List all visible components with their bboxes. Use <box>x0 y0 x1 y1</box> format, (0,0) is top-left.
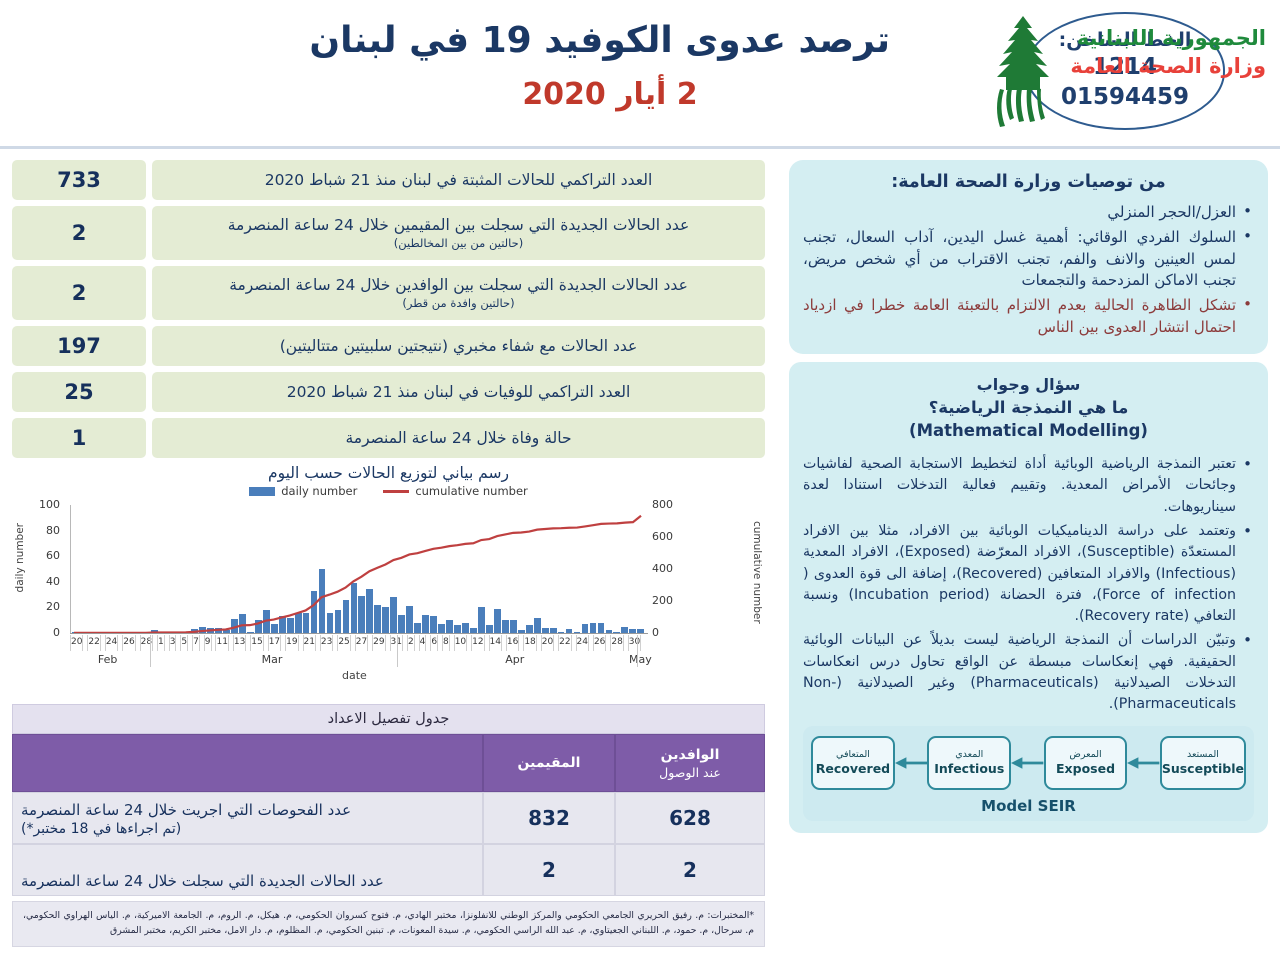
month-separator <box>150 635 151 667</box>
stat-label-text: عدد الحالات مع شفاء مخبري (نتيجتين سلبيت… <box>280 336 638 357</box>
y2-axis-tick: 600 <box>652 530 692 543</box>
list-item: العزل/الحجر المنزلي <box>803 202 1254 224</box>
y-axis-tick: 0 <box>26 626 60 639</box>
seir-node-recovered-ar: المتعافي <box>836 749 870 760</box>
month-separator <box>637 635 638 667</box>
stat-row: حالة وفاة خلال 24 ساعة المنصرمة 1 <box>12 418 765 458</box>
legend-item-cumulative: cumulative number <box>383 484 527 498</box>
x-axis-tick: 21 <box>303 635 315 651</box>
qa-heading-line2: ما هي النمذجة الرياضية؟ <box>803 396 1254 419</box>
recommendation-text: تشكل الظاهرة الحالية بعدم الالتزام بالتع… <box>803 296 1236 336</box>
details-table: جدول تفصيل الاعداد الوافدين عند الوصول ا… <box>12 704 765 947</box>
table-cell-label-text: عدد الفحوصات التي اجريت خلال 24 ساعة الم… <box>21 800 351 820</box>
x-axis-tick: 29 <box>372 635 384 651</box>
x-axis-tick: 15 <box>250 635 262 651</box>
table-row: 2 2 عدد الحالات الجديدة التي سجلت خلال 2… <box>12 844 765 896</box>
stat-label-text: العدد التراكمي للوفيات في لبنان منذ 21 ش… <box>287 382 631 403</box>
y-axis-tick: 40 <box>26 575 60 588</box>
x-axis-tick: 20 <box>70 635 82 651</box>
seir-node-exposed: المعرض Exposed <box>1044 736 1128 790</box>
qa-text: تعتبر النمذجة الرياضية الوبائية أداة لتخ… <box>803 456 1236 515</box>
legend-label-daily: daily number <box>281 484 357 498</box>
arrow-left-icon <box>1127 755 1159 771</box>
stat-value: 197 <box>12 326 146 366</box>
x-axis-tick: 9 <box>204 635 211 651</box>
qa-text: وتبيّن الدراسات أن النمذجة الرياضية ليست… <box>803 632 1236 712</box>
table-cell-residents: 832 <box>483 792 615 844</box>
x-axis-title: date <box>342 669 367 682</box>
table-cell-arrivals: 628 <box>615 792 765 844</box>
y-axis-tick: 60 <box>26 549 60 562</box>
table-cell-residents: 2 <box>483 844 615 896</box>
x-axis-tick: 11 <box>215 635 227 651</box>
x-axis-tick: 23 <box>320 635 332 651</box>
daily-cases-chart: رسم بياني لتوزيع الحالات حسب اليوم daily… <box>12 464 765 696</box>
x-axis-ticks: 20.22.24.26.28.1.3.5.7.9.11.13.15.17.19.… <box>70 635 645 651</box>
stat-row: العدد التراكمي للوفيات في لبنان منذ 21 ش… <box>12 372 765 412</box>
stat-label-subtext: (حالتين وافدة من قطر) <box>402 296 514 311</box>
chart-title: رسم بياني لتوزيع الحالات حسب اليوم <box>12 464 765 482</box>
x-axis-line <box>70 633 648 634</box>
logo-ministry-label: وزارة الصحة العامة <box>1070 54 1266 78</box>
x-axis-tick: 17 <box>268 635 280 651</box>
legend-swatch-bar-icon <box>249 487 275 496</box>
table-col-residents: المقيمين <box>483 734 615 792</box>
legend-item-daily: daily number <box>249 484 357 498</box>
table-caption: جدول تفصيل الاعداد <box>12 704 765 734</box>
month-label: Feb <box>98 653 117 666</box>
x-axis-tick: 19 <box>285 635 297 651</box>
y2-axis-tick: 200 <box>652 594 692 607</box>
x-axis-tick: 13 <box>233 635 245 651</box>
x-axis-tick: 16 <box>506 635 518 651</box>
body-area: العدد التراكمي للحالات المثبتة في لبنان … <box>0 155 1280 960</box>
x-axis-tick: 6 <box>430 635 437 651</box>
table-cell-label: عدد الفحوصات التي اجريت خلال 24 ساعة الم… <box>12 792 483 844</box>
x-axis-tick: 3 <box>169 635 176 651</box>
stat-value: 25 <box>12 372 146 412</box>
seir-model-diagram: المتعافي Recovered المعدي Infectious <box>803 726 1254 821</box>
month-label: Mar <box>262 653 283 666</box>
stat-label: حالة وفاة خلال 24 ساعة المنصرمة <box>152 418 765 458</box>
title-block: ترصد عدوى الكوفيد 19 في لبنان 2 أيار 202… <box>330 18 890 112</box>
recommendation-text: العزل/الحجر المنزلي <box>1107 203 1236 221</box>
list-item: السلوك الفردي الوقائي: أهمية غسل اليدين،… <box>803 227 1254 292</box>
month-label: May <box>629 653 652 666</box>
table-footnote: *المختبرات: م. رفيق الحريري الجامعي الحك… <box>12 901 765 947</box>
seir-node-recovered: المتعافي Recovered <box>811 736 895 790</box>
stat-label: عدد الحالات مع شفاء مخبري (نتيجتين سلبيت… <box>152 326 765 366</box>
cumulative-line-series <box>70 505 645 633</box>
seir-node-infectious-en: Infectious <box>934 761 1004 776</box>
ministry-logo: الجمهورية اللبنانية وزارة الصحة العامة <box>986 14 1266 132</box>
stat-label: العدد التراكمي للوفيات في لبنان منذ 21 ش… <box>152 372 765 412</box>
seir-node-susceptible: المستعد Susceptible <box>1160 736 1246 790</box>
y-axis-title: daily number <box>14 523 26 592</box>
x-axis-tick: 12 <box>471 635 483 651</box>
stat-label-text: العدد التراكمي للحالات المثبتة في لبنان … <box>265 170 653 191</box>
arrow-left-icon <box>895 755 927 771</box>
stat-value: 2 <box>12 266 146 320</box>
month-separator <box>397 635 398 667</box>
stat-value: 733 <box>12 160 146 200</box>
header-divider <box>0 146 1280 149</box>
list-item: تعتبر النمذجة الرياضية الوبائية أداة لتخ… <box>803 454 1254 518</box>
table-cell-label-text: عدد الحالات الجديدة التي سجلت خلال 24 سا… <box>21 871 384 891</box>
chart-plot-area: daily number cumulative number 020406080… <box>12 499 765 684</box>
stat-label-text: حالة وفاة خلال 24 ساعة المنصرمة <box>345 428 571 449</box>
x-axis-tick: 28 <box>610 635 622 651</box>
x-axis-tick: 4 <box>419 635 426 651</box>
x-axis-tick: 27 <box>355 635 367 651</box>
cedar-tree-icon <box>986 14 1060 132</box>
x-axis-tick: 30 <box>628 635 640 651</box>
stat-row: عدد الحالات الجديدة التي سجلت بين المقيم… <box>12 206 765 260</box>
list-item: تشكل الظاهرة الحالية بعدم الالتزام بالتع… <box>803 295 1254 339</box>
seir-node-infectious-ar: المعدي <box>955 749 983 760</box>
x-axis-tick: 1 <box>157 635 164 651</box>
qa-list: تعتبر النمذجة الرياضية الوبائية أداة لتخ… <box>803 454 1254 716</box>
table-cell-arrivals: 2 <box>615 844 765 896</box>
stat-label: عدد الحالات الجديدة التي سجلت بين الوافد… <box>152 266 765 320</box>
x-axis-tick: 14 <box>489 635 501 651</box>
x-axis-tick: 22 <box>558 635 570 651</box>
y-axis-tick: 80 <box>26 524 60 537</box>
seir-node-row: المتعافي Recovered المعدي Infectious <box>811 736 1246 790</box>
y2-axis-tick: 800 <box>652 498 692 511</box>
list-item: وتعتمد على دراسة الديناميكيات الوبائية ب… <box>803 521 1254 627</box>
chart-legend: daily number cumulative number <box>12 484 765 498</box>
page-title: ترصد عدوى الكوفيد 19 في لبنان <box>330 18 890 63</box>
recommendations-card: من توصيات وزارة الصحة العامة: العزل/الحج… <box>789 160 1268 354</box>
x-axis-tick: 22 <box>87 635 99 651</box>
table-header-row: الوافدين عند الوصول المقيمين <box>12 734 765 792</box>
x-axis-tick: 26 <box>593 635 605 651</box>
y-axis-tick: 20 <box>26 600 60 613</box>
qa-heading-line3: (Mathematical Modelling) <box>803 419 1254 442</box>
stat-value: 1 <box>12 418 146 458</box>
x-axis-tick: 10 <box>454 635 466 651</box>
x-axis-tick: 8 <box>442 635 449 651</box>
y2-axis-tick: 0 <box>652 626 692 639</box>
qa-heading: سؤال وجواب ما هي النمذجة الرياضية؟ (Math… <box>803 374 1254 443</box>
table-col-arrivals-label: الوافدين <box>661 747 720 763</box>
qa-text: وتعتمد على دراسة الديناميكيات الوبائية ب… <box>803 523 1236 624</box>
x-axis-month-band: FebMarAprMay <box>70 653 645 669</box>
logo-republic-label: الجمهورية اللبنانية <box>1070 26 1266 50</box>
qa-card: سؤال وجواب ما هي النمذجة الرياضية؟ (Math… <box>789 362 1268 833</box>
seir-node-exposed-ar: المعرض <box>1069 749 1101 760</box>
x-axis-tick: 18 <box>523 635 535 651</box>
stat-label: العدد التراكمي للحالات المثبتة في لبنان … <box>152 160 765 200</box>
legend-label-cumulative: cumulative number <box>415 484 527 498</box>
x-axis-tick: 26 <box>122 635 134 651</box>
stat-label-subtext: (حالتين من بين المخالطين) <box>394 236 524 251</box>
report-page: الخط الساخن: 1214 01594459 ترصد عدوى الك… <box>0 0 1280 960</box>
x-axis-tick: 2 <box>407 635 414 651</box>
qa-heading-line1: سؤال وجواب <box>803 374 1254 396</box>
x-axis-tick: 7 <box>192 635 199 651</box>
x-axis-tick: 24 <box>576 635 588 651</box>
table-col-arrivals-sub: عند الوصول <box>659 765 721 780</box>
page-header: الخط الساخن: 1214 01594459 ترصد عدوى الك… <box>0 0 1280 150</box>
table-col-description <box>12 734 483 792</box>
table-cell-label-sub: (تم اجراءها في 18 مختبر*) <box>21 820 181 839</box>
recommendations-list: العزل/الحجر المنزلي السلوك الفردي الوقائ… <box>803 202 1254 339</box>
stat-row: عدد الحالات الجديدة التي سجلت بين الوافد… <box>12 266 765 320</box>
x-axis-tick: 24 <box>105 635 117 651</box>
seir-node-susceptible-ar: المستعد <box>1187 749 1219 760</box>
x-axis-tick: . <box>640 635 645 651</box>
cumulative-line <box>74 516 641 633</box>
y2-axis-tick: 400 <box>652 562 692 575</box>
logo-text: الجمهورية اللبنانية وزارة الصحة العامة <box>1070 14 1266 78</box>
stat-label: عدد الحالات الجديدة التي سجلت بين المقيم… <box>152 206 765 260</box>
x-axis-tick: 31 <box>390 635 402 651</box>
report-date: 2 أيار 2020 <box>330 77 890 112</box>
list-item: وتبيّن الدراسات أن النمذجة الرياضية ليست… <box>803 630 1254 715</box>
legend-swatch-line-icon <box>383 490 409 493</box>
table-col-residents-label: المقيمين <box>518 755 581 771</box>
seir-node-infectious: المعدي Infectious <box>927 736 1011 790</box>
stat-row: العدد التراكمي للحالات المثبتة في لبنان … <box>12 160 765 200</box>
seir-node-exposed-en: Exposed <box>1056 761 1115 776</box>
x-axis-tick: 20 <box>541 635 553 651</box>
side-column: من توصيات وزارة الصحة العامة: العزل/الحج… <box>775 155 1280 960</box>
y2-axis-title: cumulative number <box>751 521 763 624</box>
stat-label-text: عدد الحالات الجديدة التي سجلت بين المقيم… <box>228 215 690 236</box>
y-axis-tick: 100 <box>26 498 60 511</box>
recommendation-text: السلوك الفردي الوقائي: أهمية غسل اليدين،… <box>803 228 1236 290</box>
table-row: 628 832 عدد الفحوصات التي اجريت خلال 24 … <box>12 792 765 844</box>
seir-caption: Model SEIR <box>811 797 1246 815</box>
seir-node-recovered-en: Recovered <box>816 761 890 776</box>
x-axis-tick: 5 <box>180 635 187 651</box>
stat-label-text: عدد الحالات الجديدة التي سجلت بين الوافد… <box>229 275 688 296</box>
arrow-left-icon <box>1011 755 1043 771</box>
main-column: العدد التراكمي للحالات المثبتة في لبنان … <box>0 155 775 960</box>
x-axis-tick: 25 <box>337 635 349 651</box>
table-cell-label: عدد الحالات الجديدة التي سجلت خلال 24 سا… <box>12 844 483 896</box>
stat-value: 2 <box>12 206 146 260</box>
stat-row: عدد الحالات مع شفاء مخبري (نتيجتين سلبيت… <box>12 326 765 366</box>
table-col-arrivals: الوافدين عند الوصول <box>615 734 765 792</box>
summary-stats: العدد التراكمي للحالات المثبتة في لبنان … <box>12 160 765 458</box>
recommendations-title: من توصيات وزارة الصحة العامة: <box>803 172 1254 192</box>
seir-node-susceptible-en: Susceptible <box>1162 761 1244 776</box>
month-label: Apr <box>505 653 524 666</box>
